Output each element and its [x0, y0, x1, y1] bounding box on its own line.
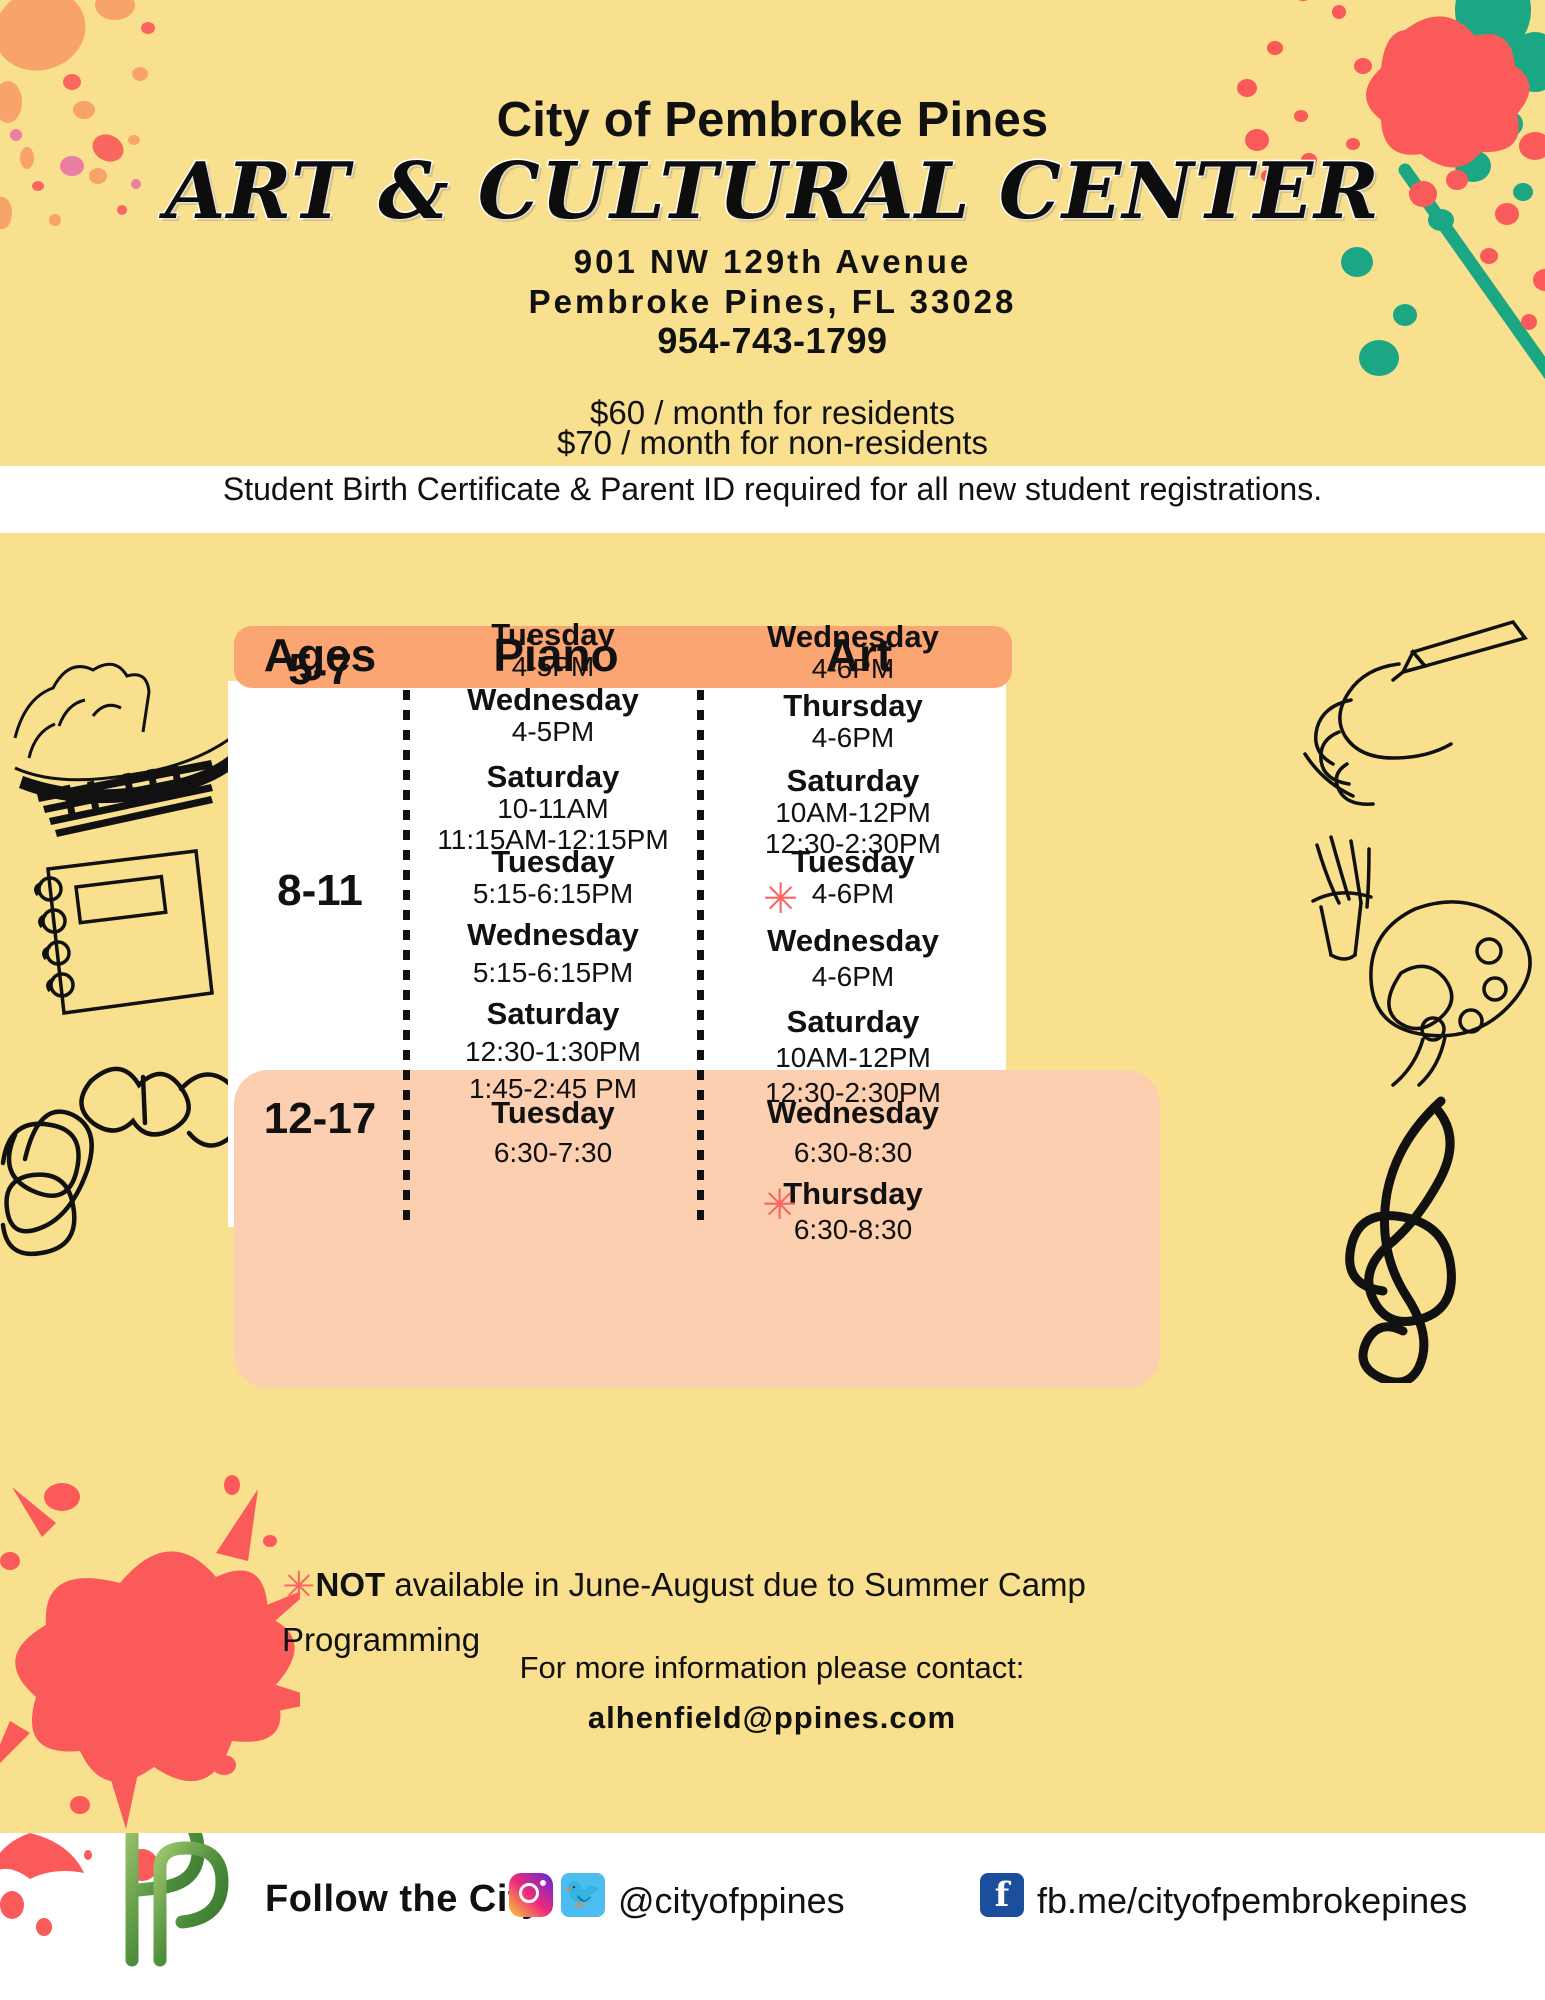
piano-time: 6:30-7:30	[406, 1137, 700, 1168]
pembroke-p-logo-icon	[88, 1833, 258, 1968]
treble-clef-illustration	[1345, 1093, 1515, 1383]
art-day: Saturday	[700, 764, 1006, 797]
address-line-1: 901 NW 129th Avenue	[0, 243, 1545, 281]
facebook-glyph: f	[980, 1873, 1024, 1917]
art-day: Thursday	[700, 689, 1006, 722]
asterisk-icon: ✳	[282, 1564, 316, 1610]
piano-time: 12:30-1:30PM	[406, 1036, 700, 1067]
notebook-illustration	[28, 833, 228, 1033]
piano-day: Tuesday	[406, 845, 700, 878]
piano-time: 5:15-6:15PM	[406, 957, 700, 988]
phone-number: 954-743-1799	[0, 320, 1545, 362]
art-time: 4-6PM	[700, 653, 1006, 684]
art-time: 6:30-8:30	[700, 1214, 1006, 1245]
piano-time: 4-5PM	[406, 651, 700, 682]
art-day: Thursday	[700, 1177, 1006, 1210]
art-time: 4-6PM	[700, 878, 1006, 909]
piano-day: Tuesday	[406, 1096, 700, 1129]
row-5-7-piano: Tuesday 4-5PM Wednesday 4-5PM Saturday 1…	[406, 618, 700, 856]
art-time: 4-6PM	[700, 722, 1006, 753]
art-day: Tuesday	[700, 845, 1006, 878]
piano-time: 10-11AM	[406, 793, 700, 824]
row-5-7-art: Wednesday 4-6PM Thursday 4-6PM Saturday …	[700, 620, 1006, 860]
hand-drawing-illustration	[1295, 608, 1535, 808]
row-12-17-art: Wednesday 6:30-8:30 Thursday 6:30-8:30	[700, 1096, 1006, 1246]
row-ages-5-7: 5-7	[234, 645, 406, 695]
piano-day: Wednesday	[406, 683, 700, 716]
art-time: 6:30-8:30	[700, 1137, 1006, 1168]
row-8-11-art: Tuesday 4-6PM Wednesday 4-6PM Saturday 1…	[700, 845, 1006, 1109]
social-handle: @cityofppines	[618, 1880, 845, 1922]
art-time: 10AM-12PM	[700, 797, 1006, 828]
contact-prompt: For more information please contact:	[282, 1650, 1262, 1686]
page-title: ART & CULTURAL CENTER	[0, 146, 1545, 237]
piano-time: 4-5PM	[406, 716, 700, 747]
facebook-handle: fb.me/cityofpembrokepines	[1037, 1880, 1467, 1922]
flyer-root: City of Pembroke Pines ART & CULTURAL CE…	[0, 0, 1545, 2000]
not-rest: available in June-August due to Summer C…	[282, 1566, 1086, 1658]
art-day: Saturday	[700, 1005, 1006, 1038]
paint-splatter-bottom-left	[0, 1433, 300, 1833]
footer-splatter-dots	[0, 1833, 250, 1953]
price-non-resident: $70 / month for non-residents	[0, 424, 1545, 462]
row-ages-12-17: 12-17	[234, 1094, 406, 1144]
paint-palette-brushes-illustration	[1295, 823, 1545, 1093]
row-8-11-piano: Tuesday 5:15-6:15PM Wednesday 5:15-6:15P…	[406, 845, 700, 1105]
art-time: 10AM-12PM	[700, 1042, 1006, 1073]
piano-day: Saturday	[406, 997, 700, 1030]
art-day: Wednesday	[700, 1096, 1006, 1129]
summer-asterisk-icon: ✳	[763, 882, 797, 916]
contact-email[interactable]: alhenfield@ppines.com	[282, 1700, 1262, 1736]
art-day: Wednesday	[700, 620, 1006, 653]
music-notes-illustration	[0, 1063, 265, 1513]
address-line-2: Pembroke Pines, FL 33028	[0, 283, 1545, 321]
art-time: 4-6PM	[700, 961, 1006, 992]
not-bold: NOT	[316, 1566, 386, 1603]
art-day: Wednesday	[700, 924, 1006, 957]
twitter-glyph: 🐦	[561, 1871, 605, 1917]
piano-day: Tuesday	[406, 618, 700, 651]
summer-camp-note: ✳NOT available in June-August due to Sum…	[282, 1558, 1262, 1664]
row-12-17-piano: Tuesday 6:30-7:30	[406, 1096, 700, 1169]
summer-asterisk-icon: ✳	[762, 1188, 796, 1222]
twitter-icon[interactable]: 🐦	[561, 1873, 605, 1917]
instagram-icon[interactable]	[509, 1873, 553, 1917]
piano-day: Wednesday	[406, 918, 700, 951]
city-line: City of Pembroke Pines	[0, 92, 1545, 148]
piano-time: 5:15-6:15PM	[406, 878, 700, 909]
registration-note: Student Birth Certificate & Parent ID re…	[0, 471, 1545, 508]
facebook-icon[interactable]: f	[980, 1873, 1024, 1917]
piano-hands-illustration	[5, 618, 240, 848]
row-ages-8-11: 8-11	[234, 866, 406, 916]
piano-day: Saturday	[406, 760, 700, 793]
